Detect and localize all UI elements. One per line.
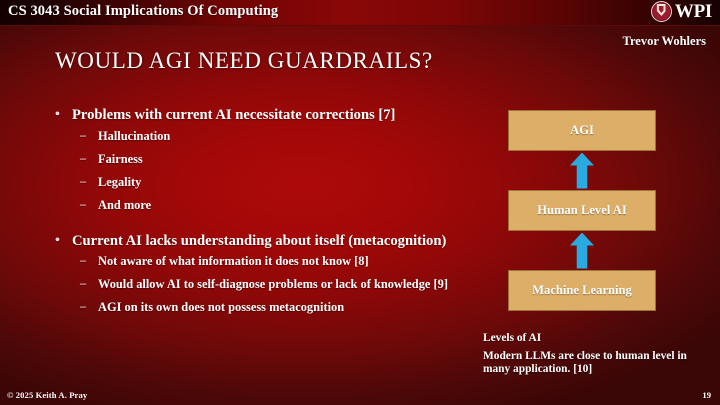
dash-icon: – <box>80 128 86 143</box>
caption-title: Levels of AI <box>483 332 711 344</box>
diagram-node-agi: AGI <box>508 110 656 151</box>
bullet-level1-text: Current AI lacks understanding about its… <box>72 233 446 249</box>
slide-title: WOULD AGI NEED GUARDRAILS? <box>55 48 433 74</box>
bullet-level2: – Hallucination <box>52 129 472 144</box>
bullet-level2-text: AGI on its own does not possess metacogn… <box>98 300 344 314</box>
dash-icon: – <box>80 253 86 268</box>
bullet-level1-text: Problems with current AI necessitate cor… <box>72 107 395 123</box>
presenter-name: Trevor Wohlers <box>623 34 706 49</box>
footer-copyright: © 2025 Keith A. Pray <box>7 390 87 400</box>
bullet-level2: – Would allow AI to self-diagnose proble… <box>52 277 472 292</box>
dash-icon: – <box>80 197 86 212</box>
bullet-level2: – Fairness <box>52 152 472 167</box>
bullet-level2: – Legality <box>52 175 472 190</box>
dash-icon: – <box>80 151 86 166</box>
caption-body: Modern LLMs are close to human level in … <box>483 350 711 376</box>
bullet-level2-text: Would allow AI to self-diagnose problems… <box>98 277 448 291</box>
bullet-list: • Problems with current AI necessitate c… <box>52 106 472 323</box>
wpi-logo: WPI <box>651 1 712 22</box>
sublist-1: – Hallucination – Fairness – Legality – … <box>52 129 472 213</box>
diagram-caption: Levels of AI Modern LLMs are close to hu… <box>483 332 711 376</box>
course-title: CS 3043 Social Implications Of Computing <box>8 3 278 20</box>
bullet-level2: – And more <box>52 198 472 213</box>
bullet-level2-text: Not aware of what information it does no… <box>98 254 369 268</box>
diagram-node-machine-learning: Machine Learning <box>508 270 656 311</box>
dash-icon: – <box>80 299 86 314</box>
levels-of-ai-diagram: AGI Human Level AI Machine Learning <box>508 110 656 311</box>
wpi-wordmark: WPI <box>675 2 712 22</box>
bullet-level2-text: Legality <box>98 175 141 189</box>
diagram-node-human-level-ai: Human Level AI <box>508 190 656 231</box>
slide-number: 19 <box>702 390 711 400</box>
wpi-seal-icon <box>651 1 672 22</box>
bullet-level1: • Problems with current AI necessitate c… <box>52 106 472 125</box>
bullet-level2: – Not aware of what information it does … <box>52 254 472 269</box>
up-arrow-icon <box>570 233 594 269</box>
bullet-dot-icon: • <box>55 106 60 125</box>
dash-icon: – <box>80 276 86 291</box>
sublist-2: – Not aware of what information it does … <box>52 254 472 315</box>
up-arrow-icon <box>570 153 594 189</box>
bullet-level1: • Current AI lacks understanding about i… <box>52 232 472 251</box>
bullet-level2-text: And more <box>98 198 151 212</box>
bullet-level2-text: Hallucination <box>98 129 170 143</box>
arrow-slot-upper <box>508 151 656 190</box>
dash-icon: – <box>80 174 86 189</box>
presentation-slide: CS 3043 Social Implications Of Computing… <box>0 0 720 405</box>
bullet-level2-text: Fairness <box>98 152 143 166</box>
bullet-dot-icon: • <box>55 232 60 251</box>
bullet-level2: – AGI on its own does not possess metaco… <box>52 300 472 315</box>
arrow-slot-lower <box>508 231 656 270</box>
bullet-spacer <box>52 221 472 232</box>
